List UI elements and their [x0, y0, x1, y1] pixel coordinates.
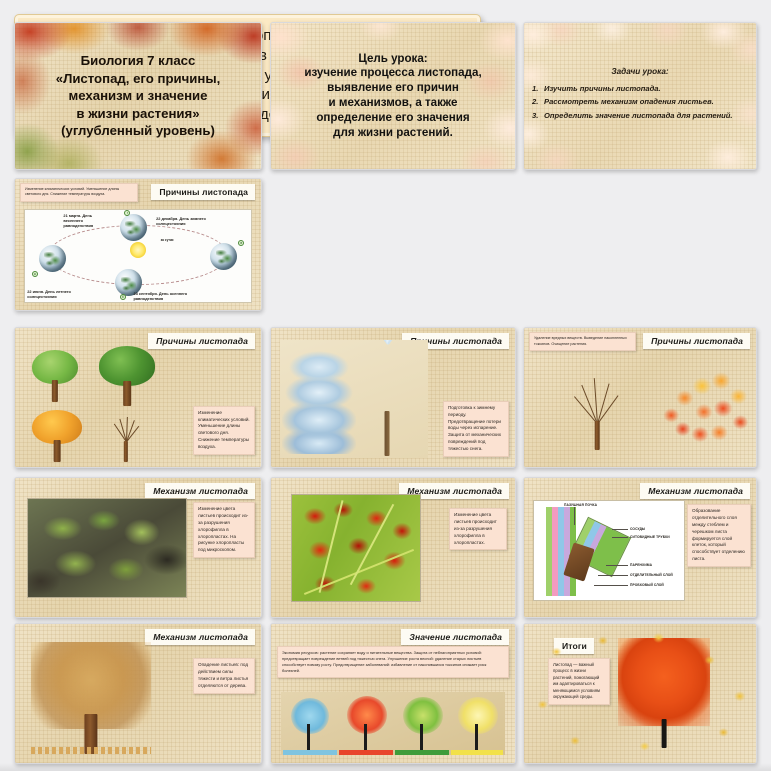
orbit-slide[interactable]: Причины листопада Изменение климатически… [14, 178, 262, 311]
causes-toxins-slide[interactable]: Причины листопада Удаление вредных вещес… [523, 327, 757, 468]
title-slide[interactable]: Биология 7 класс «Листопад, его причины,… [14, 22, 262, 170]
season-strip-winter [283, 692, 337, 755]
title-line-2: «Листопад, его причины, [56, 71, 221, 87]
label-parenchyma: ПАРЕНХИМА [630, 563, 652, 567]
leader-line [612, 537, 628, 538]
causes-seasons-slide[interactable]: Причины листопада Изменение климатически… [14, 327, 262, 468]
maple-branch-icon [654, 362, 750, 448]
note-box: Опадение листьев: под действием силы тяж… [193, 658, 255, 694]
leader-line [598, 575, 628, 576]
tree-trunk [475, 724, 478, 750]
leader-line [574, 507, 575, 525]
title-line-1: Биология 7 класс [81, 53, 196, 69]
earth-icon [210, 243, 237, 270]
winter-photo [280, 340, 428, 458]
slide-header-badge: Механизм листопада [145, 629, 255, 645]
slide-header-badge: Механизм листопада [640, 483, 750, 499]
note-box: Изменение климатических условий. Уменьше… [20, 183, 138, 202]
label-cork-layer: ПРОБКОВЫЙ СЛОЙ [630, 583, 664, 587]
goal-line-1: Цель урока: [358, 52, 427, 67]
slide-thumbnail-board: Биология 7 класс «Листопад, его причины,… [0, 0, 771, 771]
task-item: Определить значение листопада для растен… [532, 112, 748, 120]
snowy-spruce-icon [282, 348, 356, 454]
tasks-title: Задачи урока: [532, 67, 748, 76]
orbit-label-winter: 22 декабря. День зимнего солнцестояния [156, 216, 212, 227]
label-abscission-layer: ОТДЕЛИТЕЛЬНЫЙ СЛОЙ [630, 573, 673, 577]
tree-trunk [595, 421, 600, 450]
goal-line-5: определение его значения [316, 111, 469, 126]
title-line-5: (углубленный уровень) [61, 123, 215, 139]
goal-line-6: для жизни растений. [333, 126, 453, 141]
tree-trunk [662, 719, 667, 748]
tree-trunk [124, 441, 128, 462]
season-strip-autumn [339, 692, 393, 755]
slide-header-badge: Значение листопада [401, 629, 509, 645]
tree-crown [99, 346, 155, 386]
bottom-shadow [0, 763, 771, 771]
slide-header-badge: Итоги [554, 638, 594, 654]
slide-header-badge: Причины листопада [643, 333, 750, 349]
tree-trunk [364, 724, 367, 750]
tree-crown [32, 350, 78, 384]
significance-slide[interactable]: Значение листопада Экономия ресурсов: ра… [270, 623, 516, 764]
goal-slide[interactable]: Цель урока: изучение процесса листопада,… [270, 22, 516, 170]
tree-summer-icon [95, 346, 159, 406]
slide-header-badge: Причины листопада [148, 333, 255, 349]
note-box: Листопад — важный процесс в жизни растен… [548, 658, 610, 705]
tasks-slide[interactable]: Задачи урока: Изучить причины листопада.… [523, 22, 757, 170]
tasks-list: Изучить причины листопада. Рассмотреть м… [532, 85, 748, 126]
note-box: Экономия ресурсов: растение сохраняет во… [277, 646, 509, 678]
orbit-label-spring: 21 марта. День весеннего равноденствия [63, 213, 109, 229]
label-vessels: СОСУДЫ [630, 527, 645, 531]
goal-line-4: и механизмов, а также [329, 96, 458, 111]
title-line-3: механизм и значение [69, 88, 208, 104]
note-box: Изменение климатических условий. Уменьше… [193, 406, 255, 455]
note-box: Подготовка к зимнему периоду. Предотвращ… [443, 401, 509, 457]
task-item: Изучить причины листопада. [532, 85, 748, 93]
slide-header-badge: Механизм листопада [145, 483, 255, 499]
frosted-tree-icon [356, 344, 418, 456]
abscission-diagram: ПАЗУШНАЯ ПОЧКА СОСУДЫ СИТОВИДНЫЕ ТРУБКИ … [533, 500, 685, 601]
tree-winter-bare-icon [99, 412, 153, 462]
tree-trunk [307, 724, 310, 750]
tree-crown [403, 697, 443, 734]
season-strip-summer [451, 692, 503, 755]
orbit-label-summer: 22 июня. День летнего солнцестояния [27, 289, 79, 300]
fallen-leaves-ground [31, 747, 151, 754]
label-sieve-tubes: СИТОВИДНЫЕ ТРУБКИ [630, 535, 670, 539]
leaf-vein [350, 504, 395, 585]
earth-icon [120, 214, 147, 241]
mechanism-fall-slide[interactable]: Механизм листопада Опадение листьев: под… [14, 623, 262, 764]
summary-slide[interactable]: Итоги Листопад — важный процесс в жизни … [523, 623, 757, 764]
mechanism-abscission-slide[interactable]: Механизм листопада ПАЗУШНАЯ ПОЧКА СОСУДЫ… [523, 477, 757, 618]
title-line-4: в жизни растения» [76, 106, 199, 122]
mechanism-chloroplast-slide[interactable]: Механизм листопада Изменение цвета листь… [14, 477, 262, 618]
tree-crown [458, 697, 498, 734]
mechanism-leaf-slide[interactable]: Механизм листопада Изменение цвета листь… [270, 477, 516, 618]
orbit-badge: б [120, 294, 126, 300]
tree-trunk [420, 724, 423, 750]
tree-autumn-icon [29, 410, 85, 462]
earth-icon [39, 245, 66, 272]
tree-trunk [385, 411, 390, 456]
note-box: Удаление вредных веществ. Выведение нако… [529, 332, 636, 351]
tree-trunk [52, 380, 58, 402]
four-seasons-art [281, 692, 505, 755]
chloroplast-micrograph [27, 498, 187, 598]
tree-crown [32, 410, 81, 444]
tree-trunk [54, 440, 61, 462]
orbit-badge: а [32, 271, 38, 277]
red-leaf-macro [291, 494, 421, 602]
orbit-label-axis: за сутки [161, 238, 174, 242]
spruce-crown [282, 348, 356, 454]
title-slide-text: Биология 7 класс «Листопад, его причины,… [15, 23, 261, 169]
leader-line [606, 565, 628, 566]
note-box: Образование отделительного слоя между ст… [687, 504, 751, 567]
tree-spring-icon [29, 350, 81, 402]
leader-line [612, 529, 628, 530]
slide-header-badge: Причины листопада [151, 184, 255, 200]
autumn-tree-icon [31, 642, 151, 754]
tasks-slide-text: Задачи урока: Изучить причины листопада.… [524, 23, 756, 169]
task-item: Рассмотреть механизм опадения листьев. [532, 98, 748, 106]
orange-tree-icon [616, 638, 712, 748]
goal-slide-text: Цель урока: изучение процесса листопада,… [271, 23, 515, 169]
note-box: Изменение цвета листьев происходит из-за… [449, 508, 507, 550]
causes-winter-slide[interactable]: Причины листопада Подготовка к зимнему п… [270, 327, 516, 468]
tree-trunk [123, 381, 131, 406]
label-axillary-bud: ПАЗУШНАЯ ПОЧКА [564, 503, 597, 507]
goal-line-3: выявление его причин [327, 81, 459, 96]
tree-crown [618, 638, 710, 726]
orbit-badge: в [238, 240, 244, 246]
orbit-label-autumn: 23 сентября. День осеннего равноденствия [133, 291, 191, 302]
goal-line-2: изучение процесса листопада, [304, 66, 481, 81]
earth-orbit-diagram: г в б а 21 марта. День весеннего равноде… [24, 209, 252, 303]
note-box: Изменение цвета листьев происходит из-за… [193, 502, 255, 558]
tree-crown [291, 698, 329, 734]
tree-crown [347, 696, 387, 734]
bare-tree-icon [564, 364, 630, 450]
leader-line [594, 585, 628, 586]
season-strip-spring [395, 692, 449, 755]
